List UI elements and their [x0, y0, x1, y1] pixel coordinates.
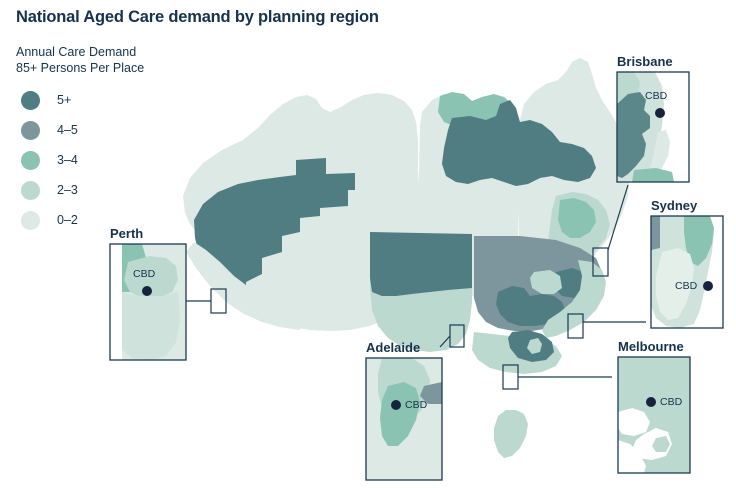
inset-melbourne	[618, 357, 690, 473]
inset-title-brisbane: Brisbane	[617, 54, 673, 69]
inset-perth-cbd-marker	[142, 286, 152, 296]
map-figure: National Aged Care demand by planning re…	[0, 0, 736, 488]
australia-choropleth-map	[0, 0, 736, 488]
inset-melbourne-cbd-marker	[646, 397, 656, 407]
inset-brisbane-cbd-label: CBD	[645, 90, 667, 102]
inset-title-melbourne: Melbourne	[618, 339, 684, 354]
inset-adelaide-cbd-marker	[391, 400, 401, 410]
inset-adelaide-cbd-label: CBD	[405, 399, 427, 411]
inset-adelaide	[366, 358, 442, 480]
inset-perth	[110, 244, 186, 360]
inset-title-adelaide: Adelaide	[366, 340, 420, 355]
region-sa-north	[370, 232, 472, 296]
inset-melbourne-cbd-label: CBD	[660, 396, 682, 408]
inset-sydney-cbd-marker	[703, 281, 713, 291]
region-tasmania	[494, 410, 528, 458]
inset-brisbane-cbd-marker	[655, 108, 665, 118]
inset-sydney-cbd-label: CBD	[675, 280, 697, 292]
inset-perth-region-light	[114, 292, 180, 360]
inset-title-perth: Perth	[110, 226, 143, 241]
inset-brisbane	[617, 72, 689, 182]
inset-title-sydney: Sydney	[651, 198, 697, 213]
inset-sydney-region-dark	[651, 216, 660, 250]
inset-sydney	[651, 216, 723, 328]
inset-perth-cbd-label: CBD	[133, 268, 155, 280]
